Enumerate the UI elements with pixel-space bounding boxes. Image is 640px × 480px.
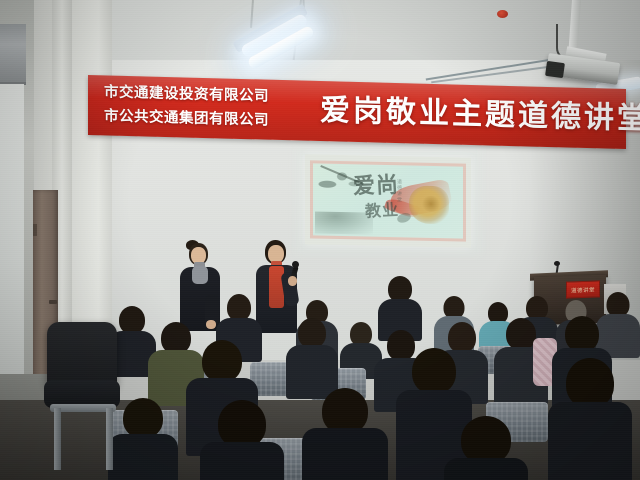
audience-torso (444, 458, 528, 480)
audience-member (200, 400, 284, 480)
audience-member (286, 318, 338, 394)
audience-head (227, 294, 251, 321)
projector-lens-icon (545, 61, 565, 78)
window-blind (0, 24, 26, 85)
podium-sign-label: 道德讲堂 (571, 285, 595, 294)
speaker-woman-top (192, 266, 208, 284)
audience-head (461, 416, 511, 464)
banner-organization-lines: 市交通建设投资有限公司 市公共交通集团有限公司 (104, 80, 320, 134)
office-chair-leg (54, 408, 61, 470)
audience-torso (200, 442, 284, 480)
audience-head (412, 348, 456, 394)
banner-org-line-2: 市公共交通集团有限公司 (104, 104, 320, 134)
audience-torso (108, 434, 178, 480)
door-handle[interactable] (49, 300, 57, 304)
audience-torso (302, 428, 388, 480)
audience-member (108, 398, 178, 480)
door-hinge (33, 224, 37, 236)
smoke-detector-icon (497, 10, 508, 18)
banner-theme-title: 爱岗敬业主题道德讲堂 (320, 87, 640, 144)
audience-head (123, 398, 163, 438)
audience-head (566, 358, 614, 408)
slide-calligraphy-sub: 教业 (364, 202, 399, 220)
audience-head (298, 318, 326, 348)
audience-head (119, 306, 145, 334)
audience-member (548, 358, 632, 480)
slide-side-column-text: 道德讲堂 (397, 179, 405, 203)
slide-calligraphy-main: 爱尚 (352, 174, 399, 197)
audience-member (378, 276, 422, 338)
audience-torso (548, 402, 632, 480)
microphone-head-icon (292, 261, 299, 268)
audience-member (444, 416, 528, 480)
projection-screen: 爱尚 教业 道德讲堂 (305, 154, 471, 247)
office-chair-leg (106, 408, 113, 470)
podium-sign: 道德讲堂 (566, 280, 600, 298)
audience-member (302, 388, 388, 480)
audience-head (565, 316, 599, 352)
office-chair-backrest[interactable] (47, 322, 117, 388)
podium-microphone-icon (554, 261, 560, 266)
slide-gold-ornament-detail (421, 196, 441, 212)
audience-head (218, 400, 266, 448)
meeting-room-photo: 市交通建设投资有限公司 市公共交通集团有限公司 爱岗敬业主题道德讲堂 爱尚 教业… (0, 0, 640, 480)
audience-head (202, 340, 242, 382)
window-pane (0, 84, 24, 374)
speaker-man-hand (288, 276, 297, 286)
projected-slide: 爱尚 教业 道德讲堂 (310, 160, 466, 241)
speaker-woman-hand (206, 320, 216, 329)
